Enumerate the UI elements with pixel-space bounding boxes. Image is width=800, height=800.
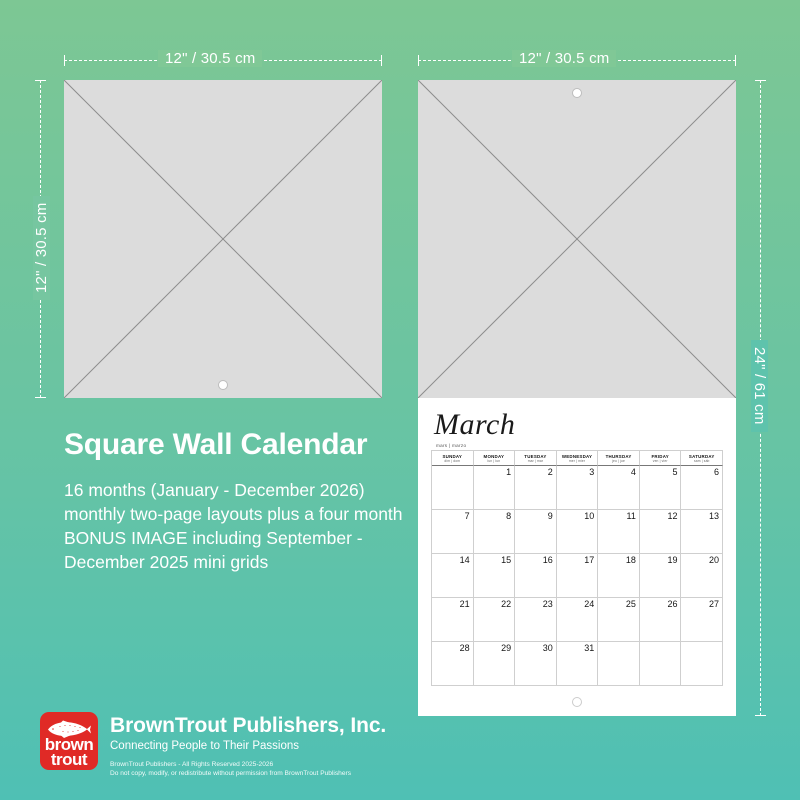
page-title: Square Wall Calendar	[64, 428, 367, 462]
product-description: 16 months (January - December 2026) mont…	[64, 478, 414, 574]
legal-line-1: BrownTrout Publishers - All Rights Reser…	[110, 760, 386, 769]
calendar-day-cell[interactable]: 17	[557, 554, 599, 598]
weekday-subtitle: jeu | jue	[612, 459, 625, 463]
calendar-day-cell[interactable]: 26	[640, 598, 682, 642]
calendar-day-number: 30	[543, 643, 553, 654]
dimension-label-top-left: 12" / 30.5 cm	[158, 50, 262, 67]
weekday-header-cell: WEDNESDAYmer | mier	[557, 451, 599, 466]
dimension-cap-right-top	[755, 80, 766, 81]
dimension-cap-left-top	[35, 80, 46, 81]
calendar-day-cell[interactable]	[640, 642, 682, 686]
calendar-day-cell[interactable]: 24	[557, 598, 599, 642]
logo-word-trout: trout	[40, 752, 98, 767]
dimension-cap-top-right-start	[418, 55, 419, 66]
dimension-label-left-vertical: 12" / 30.5 cm	[33, 196, 50, 300]
calendar-day-number: 23	[543, 599, 553, 610]
calendar-day-number: 1	[506, 467, 511, 478]
weekday-header-cell: SUNDAYdim | dom	[432, 451, 474, 466]
calendar-day-number: 15	[501, 555, 511, 566]
calendar-day-number: 12	[667, 511, 677, 522]
calendar-day-number: 5	[672, 467, 677, 478]
calendar-day-number: 27	[709, 599, 719, 610]
calendar-day-cell[interactable]: 11	[598, 510, 640, 554]
calendar-day-cell[interactable]: 25	[598, 598, 640, 642]
calendar-day-number: 7	[465, 511, 470, 522]
dimension-label-right-vertical: 24" / 61 cm	[751, 340, 768, 432]
calendar-weeks: 1234567891011121314151617181920212223242…	[432, 466, 723, 686]
calendar-day-number: 14	[460, 555, 470, 566]
placeholder-x-left	[64, 80, 382, 398]
placeholder-x-right	[418, 80, 736, 398]
calendar-day-cell[interactable]: 4	[598, 466, 640, 510]
legal-line-2: Do not copy, modify, or redistribute wit…	[110, 769, 386, 778]
calendar-day-number: 11	[627, 511, 636, 522]
calendar-day-number: 26	[667, 599, 677, 610]
weekday-header-cell: MONDAYlun | lun	[474, 451, 516, 466]
calendar-day-cell[interactable]: 31	[557, 642, 599, 686]
calendar-day-number: 9	[548, 511, 553, 522]
dimension-label-top-right: 12" / 30.5 cm	[512, 50, 616, 67]
calendar-day-number: 29	[501, 643, 511, 654]
calendar-day-cell[interactable]: 22	[474, 598, 516, 642]
calendar-day-cell[interactable]: 12	[640, 510, 682, 554]
calendar-day-cell[interactable]: 27	[681, 598, 723, 642]
calendar-day-cell[interactable]: 2	[515, 466, 557, 510]
calendar-day-cell[interactable]	[598, 642, 640, 686]
calendar-day-number: 16	[543, 555, 553, 566]
hanging-hole-calendar-page	[572, 697, 582, 707]
calendar-day-cell[interactable]: 20	[681, 554, 723, 598]
weekday-subtitle: mar | mar	[528, 459, 543, 463]
calendar-day-cell[interactable]: 14	[432, 554, 474, 598]
calendar-day-number: 24	[584, 599, 594, 610]
calendar-day-cell[interactable]: 1	[474, 466, 516, 510]
calendar-month-title: March	[434, 410, 515, 440]
calendar-day-number: 22	[501, 599, 511, 610]
calendar-day-cell[interactable]: 6	[681, 466, 723, 510]
dimension-cap-top-left-start	[64, 55, 65, 66]
calendar-day-number: 3	[589, 467, 594, 478]
calendar-day-cell[interactable]: 19	[640, 554, 682, 598]
calendar-day-cell[interactable]: 15	[474, 554, 516, 598]
calendar-day-number: 25	[626, 599, 636, 610]
calendar-day-number: 31	[584, 643, 594, 654]
calendar-week-row: 78910111213	[432, 510, 723, 554]
calendar-week-row: 123456	[432, 466, 723, 510]
calendar-day-number: 4	[631, 467, 636, 478]
footer: brown trout BrownTrout Publishers, Inc. …	[40, 712, 386, 778]
calendar-day-number: 13	[709, 511, 719, 522]
weekday-header-cell: FRIDAYven | vier	[640, 451, 682, 466]
calendar-day-cell[interactable]: 21	[432, 598, 474, 642]
calendar-day-number: 19	[667, 555, 677, 566]
calendar-day-cell[interactable]: 13	[681, 510, 723, 554]
hanging-hole-right-panel	[572, 88, 582, 98]
product-mockup-stage: 12" / 30.5 cm 12" / 30.5 cm 12" / 30.5 c…	[0, 0, 800, 800]
calendar-day-cell[interactable]: 5	[640, 466, 682, 510]
calendar-day-number: 10	[584, 511, 594, 522]
calendar-day-number: 18	[626, 555, 636, 566]
calendar-day-number: 8	[506, 511, 511, 522]
calendar-day-cell[interactable]: 29	[474, 642, 516, 686]
weekday-header-cell: TUESDAYmar | mar	[515, 451, 557, 466]
dimension-cap-right-bottom	[755, 715, 766, 716]
weekday-header-cell: THURSDAYjeu | jue	[598, 451, 640, 466]
calendar-grid: SUNDAYdim | domMONDAYlun | lunTUESDAYmar…	[431, 450, 723, 686]
calendar-grid-page: March mars | marzo SUNDAYdim | domMONDAY…	[418, 398, 736, 716]
calendar-day-cell[interactable]: 23	[515, 598, 557, 642]
browntrout-logo-wordmark: brown trout	[40, 737, 98, 767]
dimension-cap-left-bottom	[35, 397, 46, 398]
calendar-week-row: 14151617181920	[432, 554, 723, 598]
calendar-day-number: 21	[460, 599, 470, 610]
calendar-day-cell[interactable]	[681, 642, 723, 686]
calendar-day-number: 6	[714, 467, 719, 478]
calendar-day-cell[interactable]: 7	[432, 510, 474, 554]
dimension-cap-top-right-end	[735, 55, 736, 66]
company-name: BrownTrout Publishers, Inc.	[110, 714, 386, 738]
calendar-day-number: 17	[584, 555, 594, 566]
weekday-subtitle: ven | vier	[653, 459, 668, 463]
calendar-day-cell[interactable]: 16	[515, 554, 557, 598]
hanging-hole-left-panel	[218, 380, 228, 390]
footer-text-block: BrownTrout Publishers, Inc. Connecting P…	[110, 712, 386, 778]
weekday-header-cell: SATURDAYsam | sáb	[681, 451, 723, 466]
calendar-image-panel-right	[418, 80, 736, 398]
calendar-day-number: 20	[709, 555, 719, 566]
dimension-cap-top-left-end	[381, 55, 382, 66]
calendar-day-cell[interactable]: 10	[557, 510, 599, 554]
browntrout-logo: brown trout	[40, 712, 98, 770]
calendar-day-number: 2	[548, 467, 553, 478]
calendar-weekday-header: SUNDAYdim | domMONDAYlun | lunTUESDAYmar…	[432, 451, 723, 466]
calendar-day-cell[interactable]: 18	[598, 554, 640, 598]
legal-notice: BrownTrout Publishers - All Rights Reser…	[110, 760, 386, 778]
weekday-subtitle: sam | sáb	[694, 459, 710, 463]
calendar-week-row: 28293031	[432, 642, 723, 686]
weekday-subtitle: lun | lun	[487, 459, 500, 463]
weekday-subtitle: mer | mier	[569, 459, 585, 463]
calendar-day-number: 28	[460, 643, 470, 654]
calendar-day-cell[interactable]: 30	[515, 642, 557, 686]
calendar-cover-panel-left	[64, 80, 382, 398]
calendar-day-cell[interactable]	[432, 466, 474, 510]
calendar-day-cell[interactable]: 3	[557, 466, 599, 510]
company-tagline: Connecting People to Their Passions	[110, 739, 386, 754]
calendar-day-cell[interactable]: 8	[474, 510, 516, 554]
calendar-month-subtitle: mars | marzo	[436, 443, 466, 448]
calendar-week-row: 21222324252627	[432, 598, 723, 642]
calendar-day-cell[interactable]: 9	[515, 510, 557, 554]
weekday-subtitle: dim | dom	[444, 459, 460, 463]
calendar-day-cell[interactable]: 28	[432, 642, 474, 686]
